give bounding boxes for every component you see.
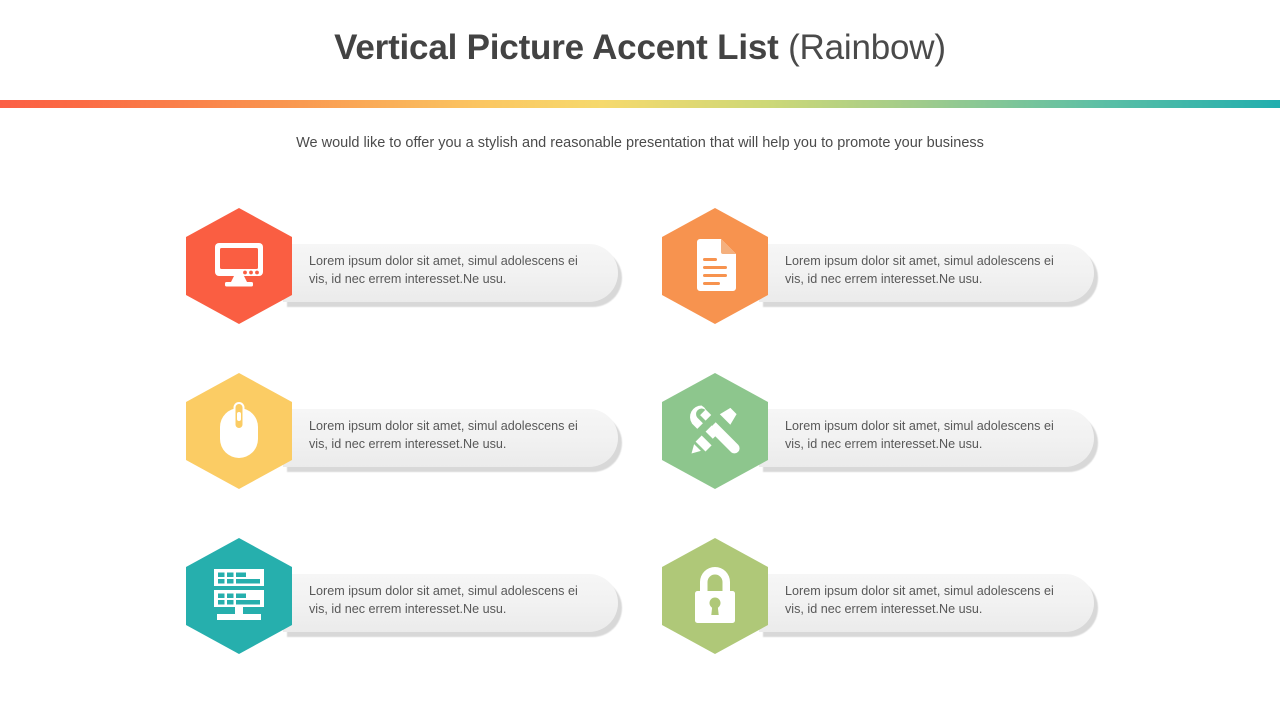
hexagon-badge[interactable] [186,538,292,654]
list-item-text: Lorem ipsum dolor sit amet, simul adoles… [785,417,1075,453]
hexagon-badge[interactable] [662,538,768,654]
page-title-secondary: (Rainbow) [779,28,946,67]
page-title-primary: Vertical Picture Accent List [334,28,778,67]
list-item-text: Lorem ipsum dolor sit amet, simul adoles… [785,582,1075,618]
list-item[interactable]: Lorem ipsum dolor sit amet, simul adoles… [186,538,626,662]
hexagon-badge[interactable] [662,373,768,489]
list-item[interactable]: Lorem ipsum dolor sit amet, simul adoles… [186,208,626,332]
hexagon-badge[interactable] [662,208,768,324]
list-item[interactable]: Lorem ipsum dolor sit amet, simul adoles… [662,208,1102,332]
list-item-text: Lorem ipsum dolor sit amet, simul adoles… [309,582,599,618]
page-title: Vertical Picture Accent List (Rainbow) [0,26,1280,70]
list-item-text: Lorem ipsum dolor sit amet, simul adoles… [309,417,599,453]
hexagon-badge[interactable] [186,373,292,489]
list-item-text: Lorem ipsum dolor sit amet, simul adoles… [309,252,599,288]
page-subtitle: We would like to offer you a stylish and… [0,133,1280,153]
tools-icon [688,401,742,459]
lock-icon [688,566,742,624]
list-item-text: Lorem ipsum dolor sit amet, simul adoles… [785,252,1075,288]
document-icon [688,236,742,294]
list-item[interactable]: Lorem ipsum dolor sit amet, simul adoles… [662,373,1102,497]
server-icon [212,566,266,624]
rainbow-divider [0,100,1280,108]
accent-list-grid: Lorem ipsum dolor sit amet, simul adoles… [0,200,1280,700]
monitor-icon [212,236,266,294]
list-item[interactable]: Lorem ipsum dolor sit amet, simul adoles… [186,373,626,497]
hexagon-badge[interactable] [186,208,292,324]
list-item[interactable]: Lorem ipsum dolor sit amet, simul adoles… [662,538,1102,662]
mouse-icon [212,401,266,459]
